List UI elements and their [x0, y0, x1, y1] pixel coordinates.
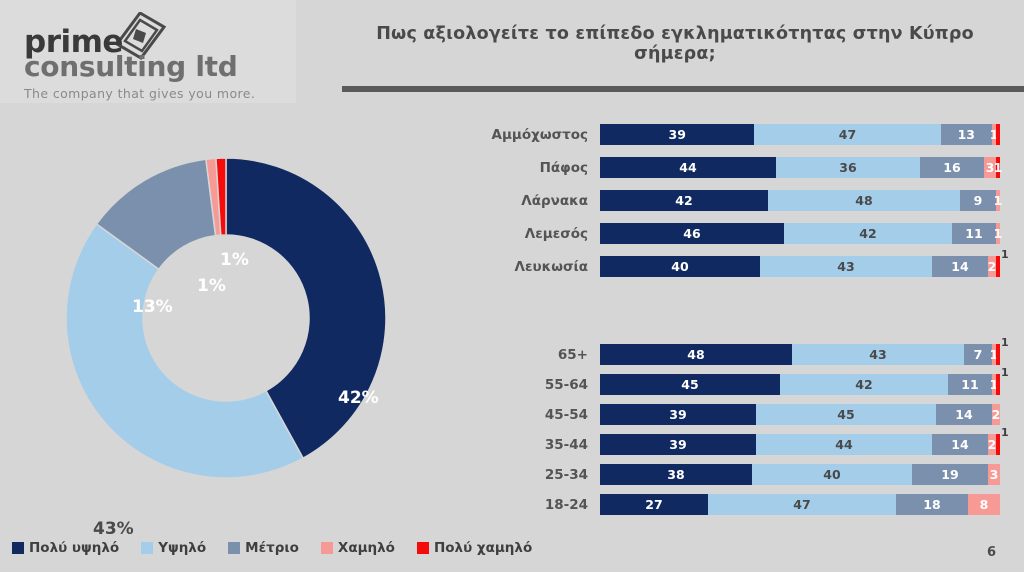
bar-segment[interactable]: 9	[960, 190, 996, 211]
bar-segment[interactable]: 13	[941, 124, 992, 145]
bar-category-label: 55-64	[470, 375, 588, 395]
legend-swatch-icon	[141, 542, 153, 554]
bar-segment[interactable]: 1	[996, 256, 1000, 277]
bar-segment[interactable]: 42	[780, 374, 948, 395]
bar-segment[interactable]: 39	[600, 124, 754, 145]
logo-panel: prime consulting ltd The company that gi…	[0, 0, 296, 103]
bar-segment-outside-label: 1	[1000, 248, 1009, 261]
bar-segment[interactable]: 11	[948, 374, 992, 395]
bar-segment[interactable]: 39	[600, 434, 756, 455]
legend-item-label: Υψηλό	[158, 540, 206, 556]
donut-chart: 42% 43% 13% 1% 1%	[8, 108, 448, 526]
bar-segment[interactable]: 36	[776, 157, 920, 178]
bar-segment-outside-label: 1	[1000, 366, 1009, 379]
bar-segment[interactable]: 40	[752, 464, 912, 485]
bar-segment[interactable]: 2	[988, 256, 996, 277]
legend-item[interactable]: Χαμηλό	[321, 540, 395, 556]
bar-segment[interactable]: 19	[912, 464, 988, 485]
bar-segment[interactable]: 43	[792, 344, 964, 365]
bar-segment[interactable]: 8	[968, 494, 1000, 515]
bar-segment[interactable]: 47	[708, 494, 896, 515]
bar-category-label: 65+	[470, 345, 588, 365]
bar-track: 4642111	[600, 223, 1000, 244]
bar-segment[interactable]: 39	[600, 404, 756, 425]
bar-row: 35-4439441421	[470, 434, 1018, 456]
bar-row: Πάφος44361631	[470, 157, 1018, 179]
bar-segment[interactable]: 7	[964, 344, 992, 365]
legend-item-label: Πολύ χαμηλό	[434, 540, 532, 556]
bar-segment[interactable]: 14	[936, 404, 992, 425]
bar-segment[interactable]: 1	[996, 374, 1000, 395]
bar-category-label: 35-44	[470, 435, 588, 455]
donut-chart-svg	[8, 108, 448, 526]
bar-segment[interactable]: 44	[756, 434, 932, 455]
slide-title: Πως αξιολογείτε το επίπεδο εγκληματικότη…	[340, 24, 1010, 64]
bar-segment[interactable]: 11	[952, 223, 996, 244]
bar-category-label: 25-34	[470, 465, 588, 485]
page-number: 6	[987, 545, 996, 560]
bar-segment[interactable]: 27	[600, 494, 708, 515]
bar-category-label: Λευκωσία	[470, 257, 588, 277]
bar-row: Αμμόχωστος3947131	[470, 124, 1018, 146]
bar-segment[interactable]: 45	[756, 404, 936, 425]
bar-segment[interactable]: 3	[988, 464, 1000, 485]
bar-category-label: 45-54	[470, 405, 588, 425]
bar-segment[interactable]: 1	[996, 344, 1000, 365]
region-stacked-bar-chart: Αμμόχωστος3947131Πάφος44361631Λάρνακα424…	[470, 124, 1018, 296]
bar-segment[interactable]: 42	[600, 190, 768, 211]
bar-segment[interactable]: 40	[600, 256, 760, 277]
bar-track: 2747188	[600, 494, 1000, 515]
age-stacked-bar-chart: 65+484371155-644542111145-54394514235-44…	[470, 344, 1018, 526]
bar-track: 3945142	[600, 404, 1000, 425]
legend-item[interactable]: Πολύ υψηλό	[12, 540, 119, 556]
bar-segment[interactable]: 1	[996, 157, 1000, 178]
bar-track: 40431421	[600, 256, 1000, 277]
bar-segment[interactable]: 43	[760, 256, 932, 277]
bar-segment[interactable]: 47	[754, 124, 940, 145]
bar-segment[interactable]: 1	[996, 190, 1000, 211]
bar-category-label: 18-24	[470, 495, 588, 515]
logo-tagline: The company that gives you more.	[24, 86, 255, 101]
bar-segment[interactable]: 1	[996, 223, 1000, 244]
bar-track: 45421111	[600, 374, 1000, 395]
bar-segment[interactable]: 2	[988, 434, 996, 455]
bar-segment[interactable]: 44	[600, 157, 776, 178]
legend-item[interactable]: Υψηλό	[141, 540, 206, 556]
bar-track: 44361631	[600, 157, 1000, 178]
bar-segment[interactable]: 42	[784, 223, 952, 244]
bar-segment[interactable]: 38	[600, 464, 752, 485]
bar-row: Λεμεσός4642111	[470, 223, 1018, 245]
legend-item[interactable]: Μέτριο	[228, 540, 299, 556]
bar-category-label: Λάρνακα	[470, 191, 588, 211]
slide-header: prime consulting ltd The company that gi…	[0, 0, 1024, 103]
bar-segment[interactable]: 16	[920, 157, 984, 178]
company-logo: prime consulting ltd The company that gi…	[14, 10, 284, 98]
bar-segment[interactable]: 45	[600, 374, 780, 395]
legend-swatch-icon	[321, 542, 333, 554]
bar-row: 18-242747188	[470, 494, 1018, 516]
legend-item[interactable]: Πολύ χαμηλό	[417, 540, 532, 556]
bar-track: 3947131	[600, 124, 1000, 145]
legend-swatch-icon	[228, 542, 240, 554]
bar-row: Λάρνακα424891	[470, 190, 1018, 212]
bar-row: Λευκωσία40431421	[470, 256, 1018, 278]
legend-item-label: Πολύ υψηλό	[29, 540, 119, 556]
legend-swatch-icon	[417, 542, 429, 554]
legend-item-label: Μέτριο	[245, 540, 299, 556]
donut-slice[interactable]	[66, 224, 303, 478]
bar-segment[interactable]: 14	[932, 256, 988, 277]
bar-row: 25-343840193	[470, 464, 1018, 486]
legend-swatch-icon	[12, 542, 24, 554]
title-divider	[342, 86, 1024, 92]
bar-category-label: Αμμόχωστος	[470, 125, 588, 145]
logo-secondary-text: consulting ltd	[24, 50, 238, 83]
bar-segment[interactable]: 48	[600, 344, 792, 365]
bar-row: 55-6445421111	[470, 374, 1018, 396]
legend-item-label: Χαμηλό	[338, 540, 395, 556]
bar-segment[interactable]: 46	[600, 223, 784, 244]
chart-legend: Πολύ υψηλόΥψηλόΜέτριοΧαμηλόΠολύ χαμηλό	[12, 540, 532, 556]
bar-segment[interactable]: 48	[768, 190, 960, 211]
bar-segment[interactable]: 1	[996, 434, 1000, 455]
bar-track: 39441421	[600, 434, 1000, 455]
bar-segment[interactable]: 2	[992, 404, 1000, 425]
bar-segment[interactable]	[996, 124, 1000, 145]
bar-category-label: Πάφος	[470, 158, 588, 178]
bar-segment-outside-label: 1	[1000, 336, 1009, 349]
bar-segment[interactable]: 18	[896, 494, 968, 515]
bar-segment-outside-label: 1	[1000, 426, 1009, 439]
bar-segment[interactable]: 14	[932, 434, 988, 455]
bar-track: 4843711	[600, 344, 1000, 365]
bar-row: 65+4843711	[470, 344, 1018, 366]
bar-row: 45-543945142	[470, 404, 1018, 426]
bar-track: 3840193	[600, 464, 1000, 485]
bar-track: 424891	[600, 190, 1000, 211]
bar-category-label: Λεμεσός	[470, 224, 588, 244]
